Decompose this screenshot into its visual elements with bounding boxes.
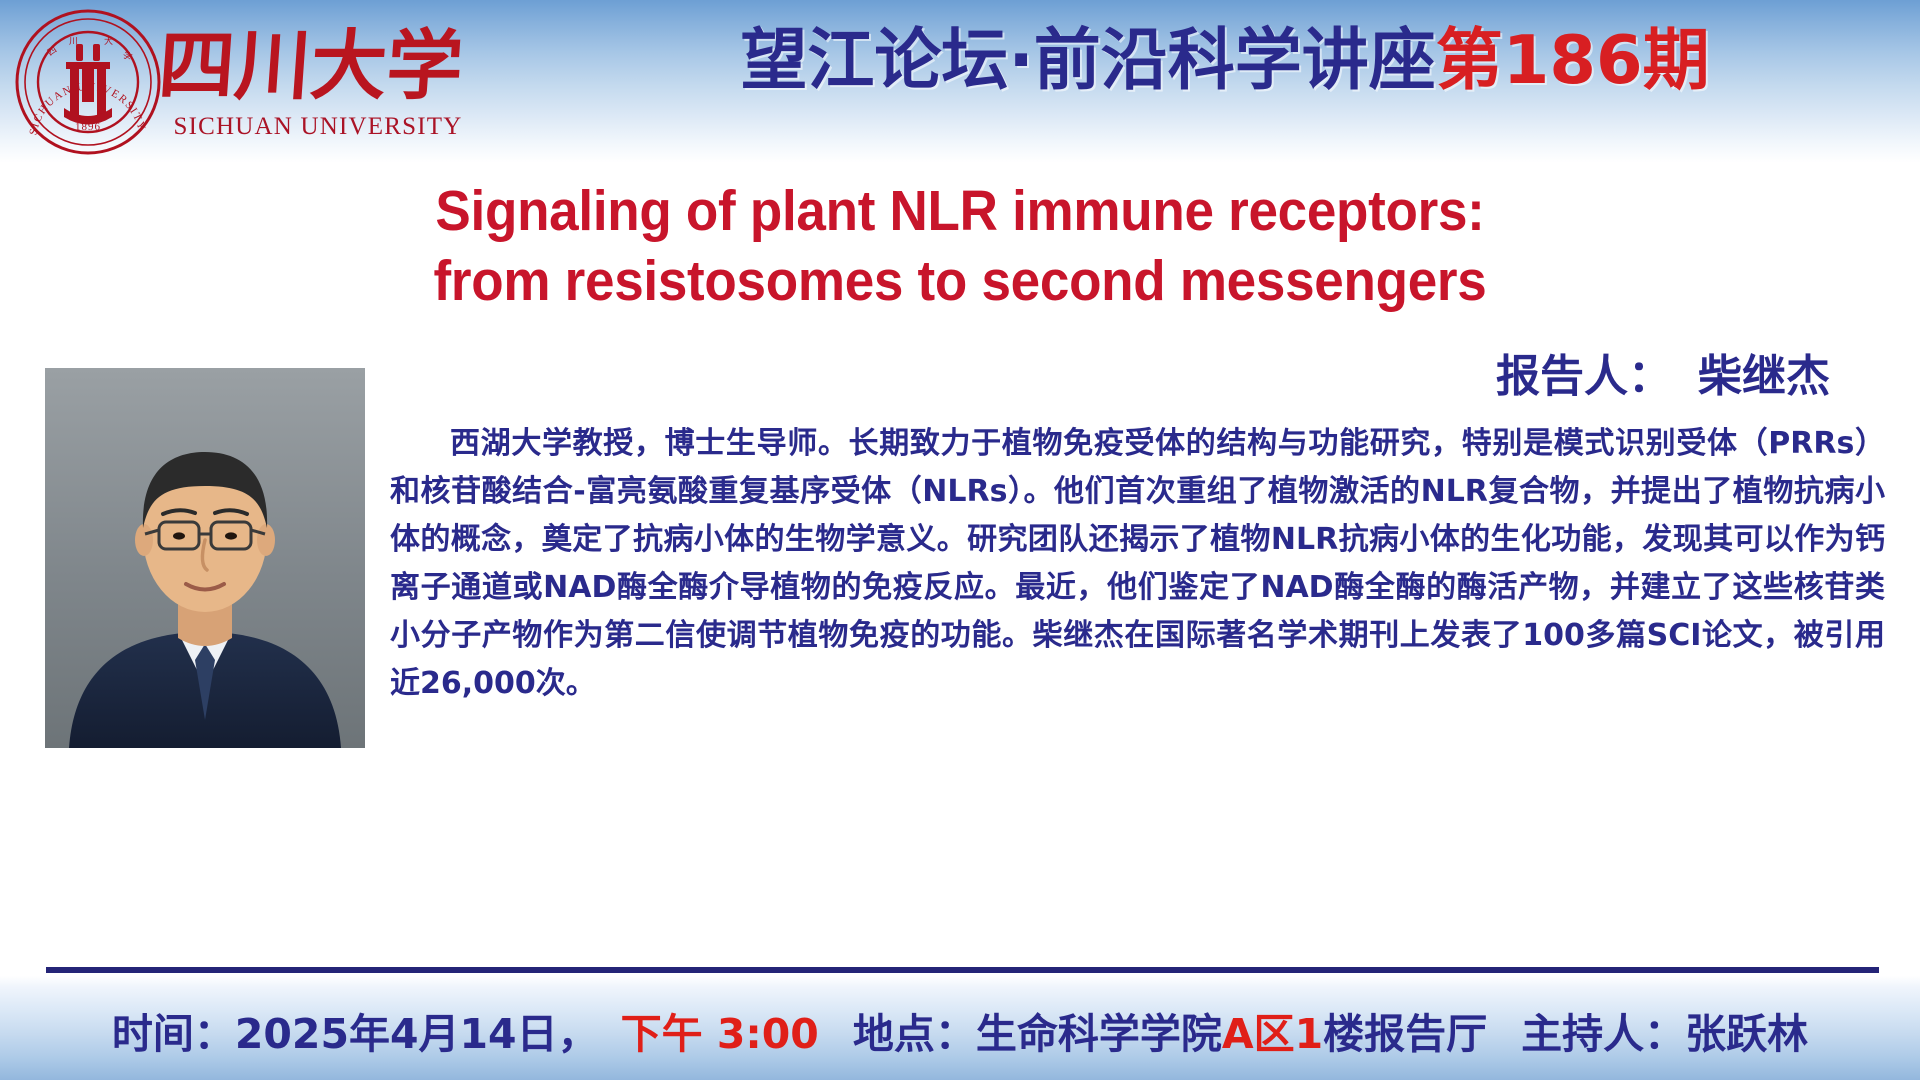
portrait-photo-icon xyxy=(45,368,365,748)
banner-issue-text: 第186期 xyxy=(1436,21,1710,99)
banner-title: 望江论坛·前沿科学讲座第186期 xyxy=(560,27,1890,94)
speaker-row: 报告人：柴继杰 xyxy=(1496,340,1830,404)
footer-time-label: 时间： xyxy=(112,1010,235,1058)
poster-header: SICHUAN UNIVERSITY 四 川 大 学 xyxy=(0,0,1920,163)
talk-title: Signaling of plant NLR immune receptors:… xyxy=(123,176,1797,316)
svg-text:四川大学: 四川大学 xyxy=(162,21,466,110)
svg-text:四: 四 xyxy=(45,44,58,57)
university-name-cn-icon: 四川大学 xyxy=(162,20,492,110)
footer-place-suffix: 楼报告厅 xyxy=(1323,1010,1487,1058)
banner-series-text: 望江论坛·前沿科学讲座 xyxy=(740,21,1435,99)
footer-place-prefix: 生命科学学院 xyxy=(976,1010,1222,1058)
university-seal-icon: SICHUAN UNIVERSITY 四 川 大 学 xyxy=(14,8,162,156)
speaker-bio: 西湖大学教授，博士生导师。长期致力于植物免疫受体的结构与功能研究，特别是模式识别… xyxy=(390,420,1885,708)
speaker-label: 报告人： xyxy=(1496,351,1672,402)
footer-divider xyxy=(46,967,1879,973)
svg-text:川: 川 xyxy=(69,36,78,46)
footer-place-label: 地点： xyxy=(853,1010,976,1058)
seminar-poster: SICHUAN UNIVERSITY 四 川 大 学 xyxy=(0,0,1920,1080)
university-name-en: SICHUAN UNIVERSITY xyxy=(168,113,468,141)
university-name-cn-calligraphy: 四川大学 xyxy=(162,20,492,110)
footer-host-name: 张跃林 xyxy=(1685,1010,1808,1058)
speaker-name: 柴继杰 xyxy=(1698,351,1830,402)
footer-time-value: 下午 3:00 xyxy=(621,1010,819,1058)
footer-info: 时间：2025年4月14日，下午 3:00地点：生命科学学院A区1楼报告厅主持人… xyxy=(0,1000,1920,1060)
talk-title-line-1: Signaling of plant NLR immune receptors: xyxy=(123,176,1797,246)
footer-host-label: 主持人： xyxy=(1521,1010,1685,1058)
speaker-portrait xyxy=(45,368,365,748)
talk-title-line-2: from resistosomes to second messengers xyxy=(123,246,1797,316)
svg-text:大: 大 xyxy=(104,35,113,46)
svg-text:1896: 1896 xyxy=(75,121,101,133)
sichuan-university-logo: SICHUAN UNIVERSITY 四 川 大 学 xyxy=(14,8,164,158)
footer-date: 2025年4月14日， xyxy=(235,1010,599,1058)
footer-place-highlight: A区1 xyxy=(1222,1010,1323,1058)
